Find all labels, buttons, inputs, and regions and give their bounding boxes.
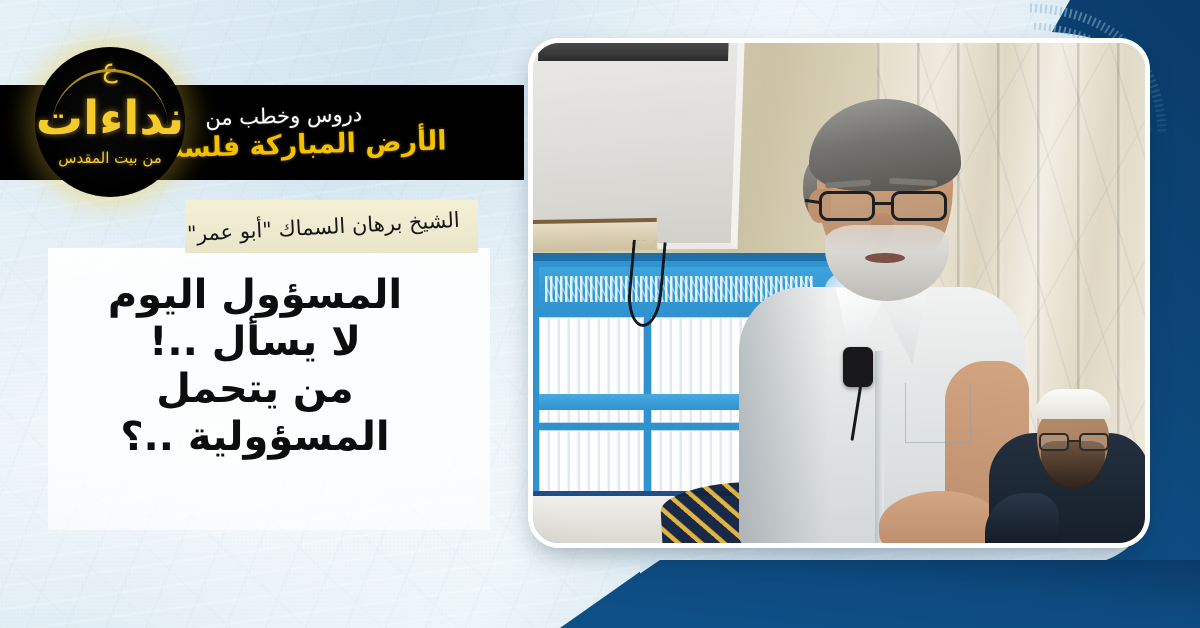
banner-canvas: المسؤول اليوم لا يسأل ..! من يتحمل المسؤ… (0, 0, 1200, 628)
headline-line-1: المسؤول اليوم (40, 272, 470, 319)
speaker-photo (533, 43, 1145, 543)
photo-content (533, 43, 1145, 543)
photo-vignette (533, 43, 1145, 543)
headline-line-4: المسؤولية ..؟ (40, 414, 470, 461)
logo-brand-subtitle: من بيت المقدس (58, 149, 162, 167)
headline-line-3: من يتحمل (40, 366, 470, 413)
speaker-name: الشيخ برهان السماك "أبو عمر" (187, 207, 461, 245)
arc-icon (52, 69, 168, 143)
headline-line-2: لا يسأل ..! (40, 319, 470, 366)
page-title: المسؤول اليوم لا يسأل ..! من يتحمل المسؤ… (40, 272, 470, 461)
brand-logo: ع نداءات من بيت المقدس (35, 47, 185, 197)
speaker-name-strip: الشيخ برهان السماك "أبو عمر" (185, 200, 478, 253)
